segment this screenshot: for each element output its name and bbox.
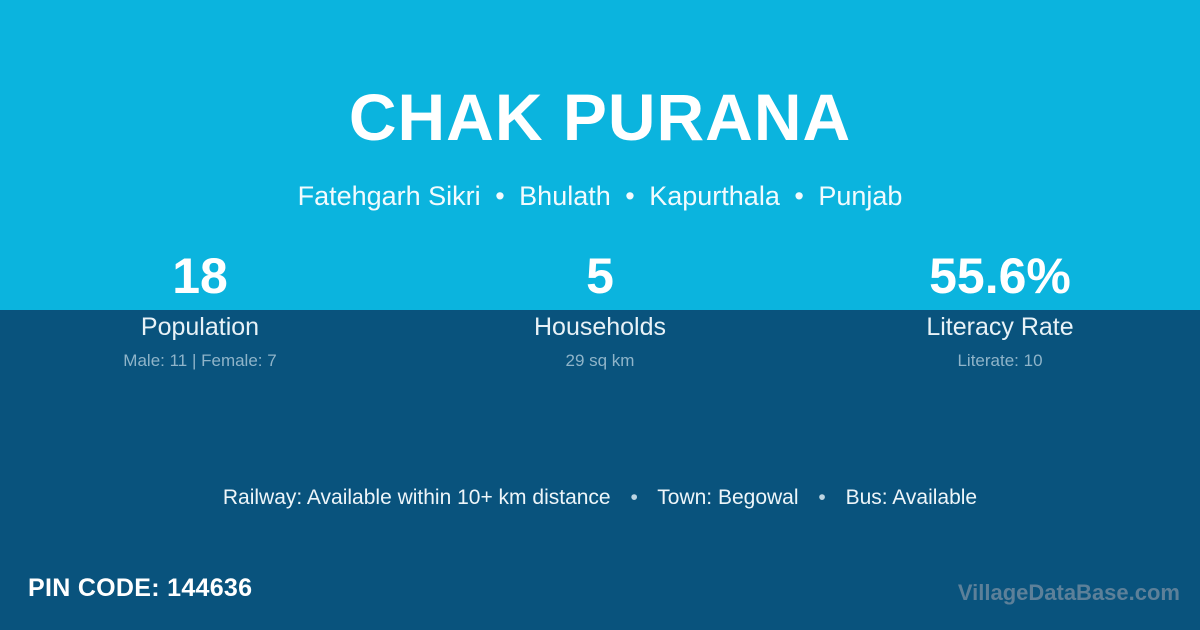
breadcrumb-separator-icon: • (787, 181, 810, 212)
amenity-separator-icon: • (616, 486, 651, 510)
stat-label: Literacy Rate (800, 313, 1200, 341)
stat-label: Households (400, 313, 800, 341)
stat-sublabel: Male: 11 | Female: 7 (0, 351, 400, 371)
breadcrumb-separator-icon: • (488, 181, 511, 212)
stat-label: Population (0, 313, 400, 341)
stat-sublabel: Literate: 10 (800, 351, 1200, 371)
amenity-town: Town: Begowal (657, 486, 798, 509)
breadcrumb-item-subdistrict: Bhulath (519, 181, 611, 211)
stats-row: 18 Population Male: 11 | Female: 7 5 Hou… (0, 246, 1200, 371)
pin-code: PIN CODE: 144636 (28, 574, 252, 603)
stat-value: 5 (400, 246, 800, 306)
amenity-railway: Railway: Available within 10+ km distanc… (223, 486, 611, 509)
breadcrumb: Fatehgarh Sikri • Bhulath • Kapurthala •… (0, 181, 1200, 212)
amenity-separator-icon: • (804, 486, 839, 510)
stat-literacy-rate: 55.6% Literacy Rate Literate: 10 (800, 246, 1200, 371)
village-info-card: CHAK PURANA Fatehgarh Sikri • Bhulath • … (0, 0, 1200, 630)
breadcrumb-separator-icon: • (618, 181, 641, 212)
stat-households: 5 Households 29 sq km (400, 246, 800, 371)
page-title: CHAK PURANA (0, 83, 1200, 153)
breadcrumb-item-block: Fatehgarh Sikri (298, 181, 481, 211)
site-branding: VillageDataBase.com (958, 580, 1180, 606)
stat-sublabel: 29 sq km (400, 351, 800, 371)
amenities-line: Railway: Available within 10+ km distanc… (0, 486, 1200, 510)
breadcrumb-item-state: Punjab (818, 181, 902, 211)
stat-value: 18 (0, 246, 400, 306)
stat-value: 55.6% (800, 246, 1200, 306)
stat-population: 18 Population Male: 11 | Female: 7 (0, 246, 400, 371)
breadcrumb-item-district: Kapurthala (649, 181, 780, 211)
amenity-bus: Bus: Available (846, 486, 978, 509)
